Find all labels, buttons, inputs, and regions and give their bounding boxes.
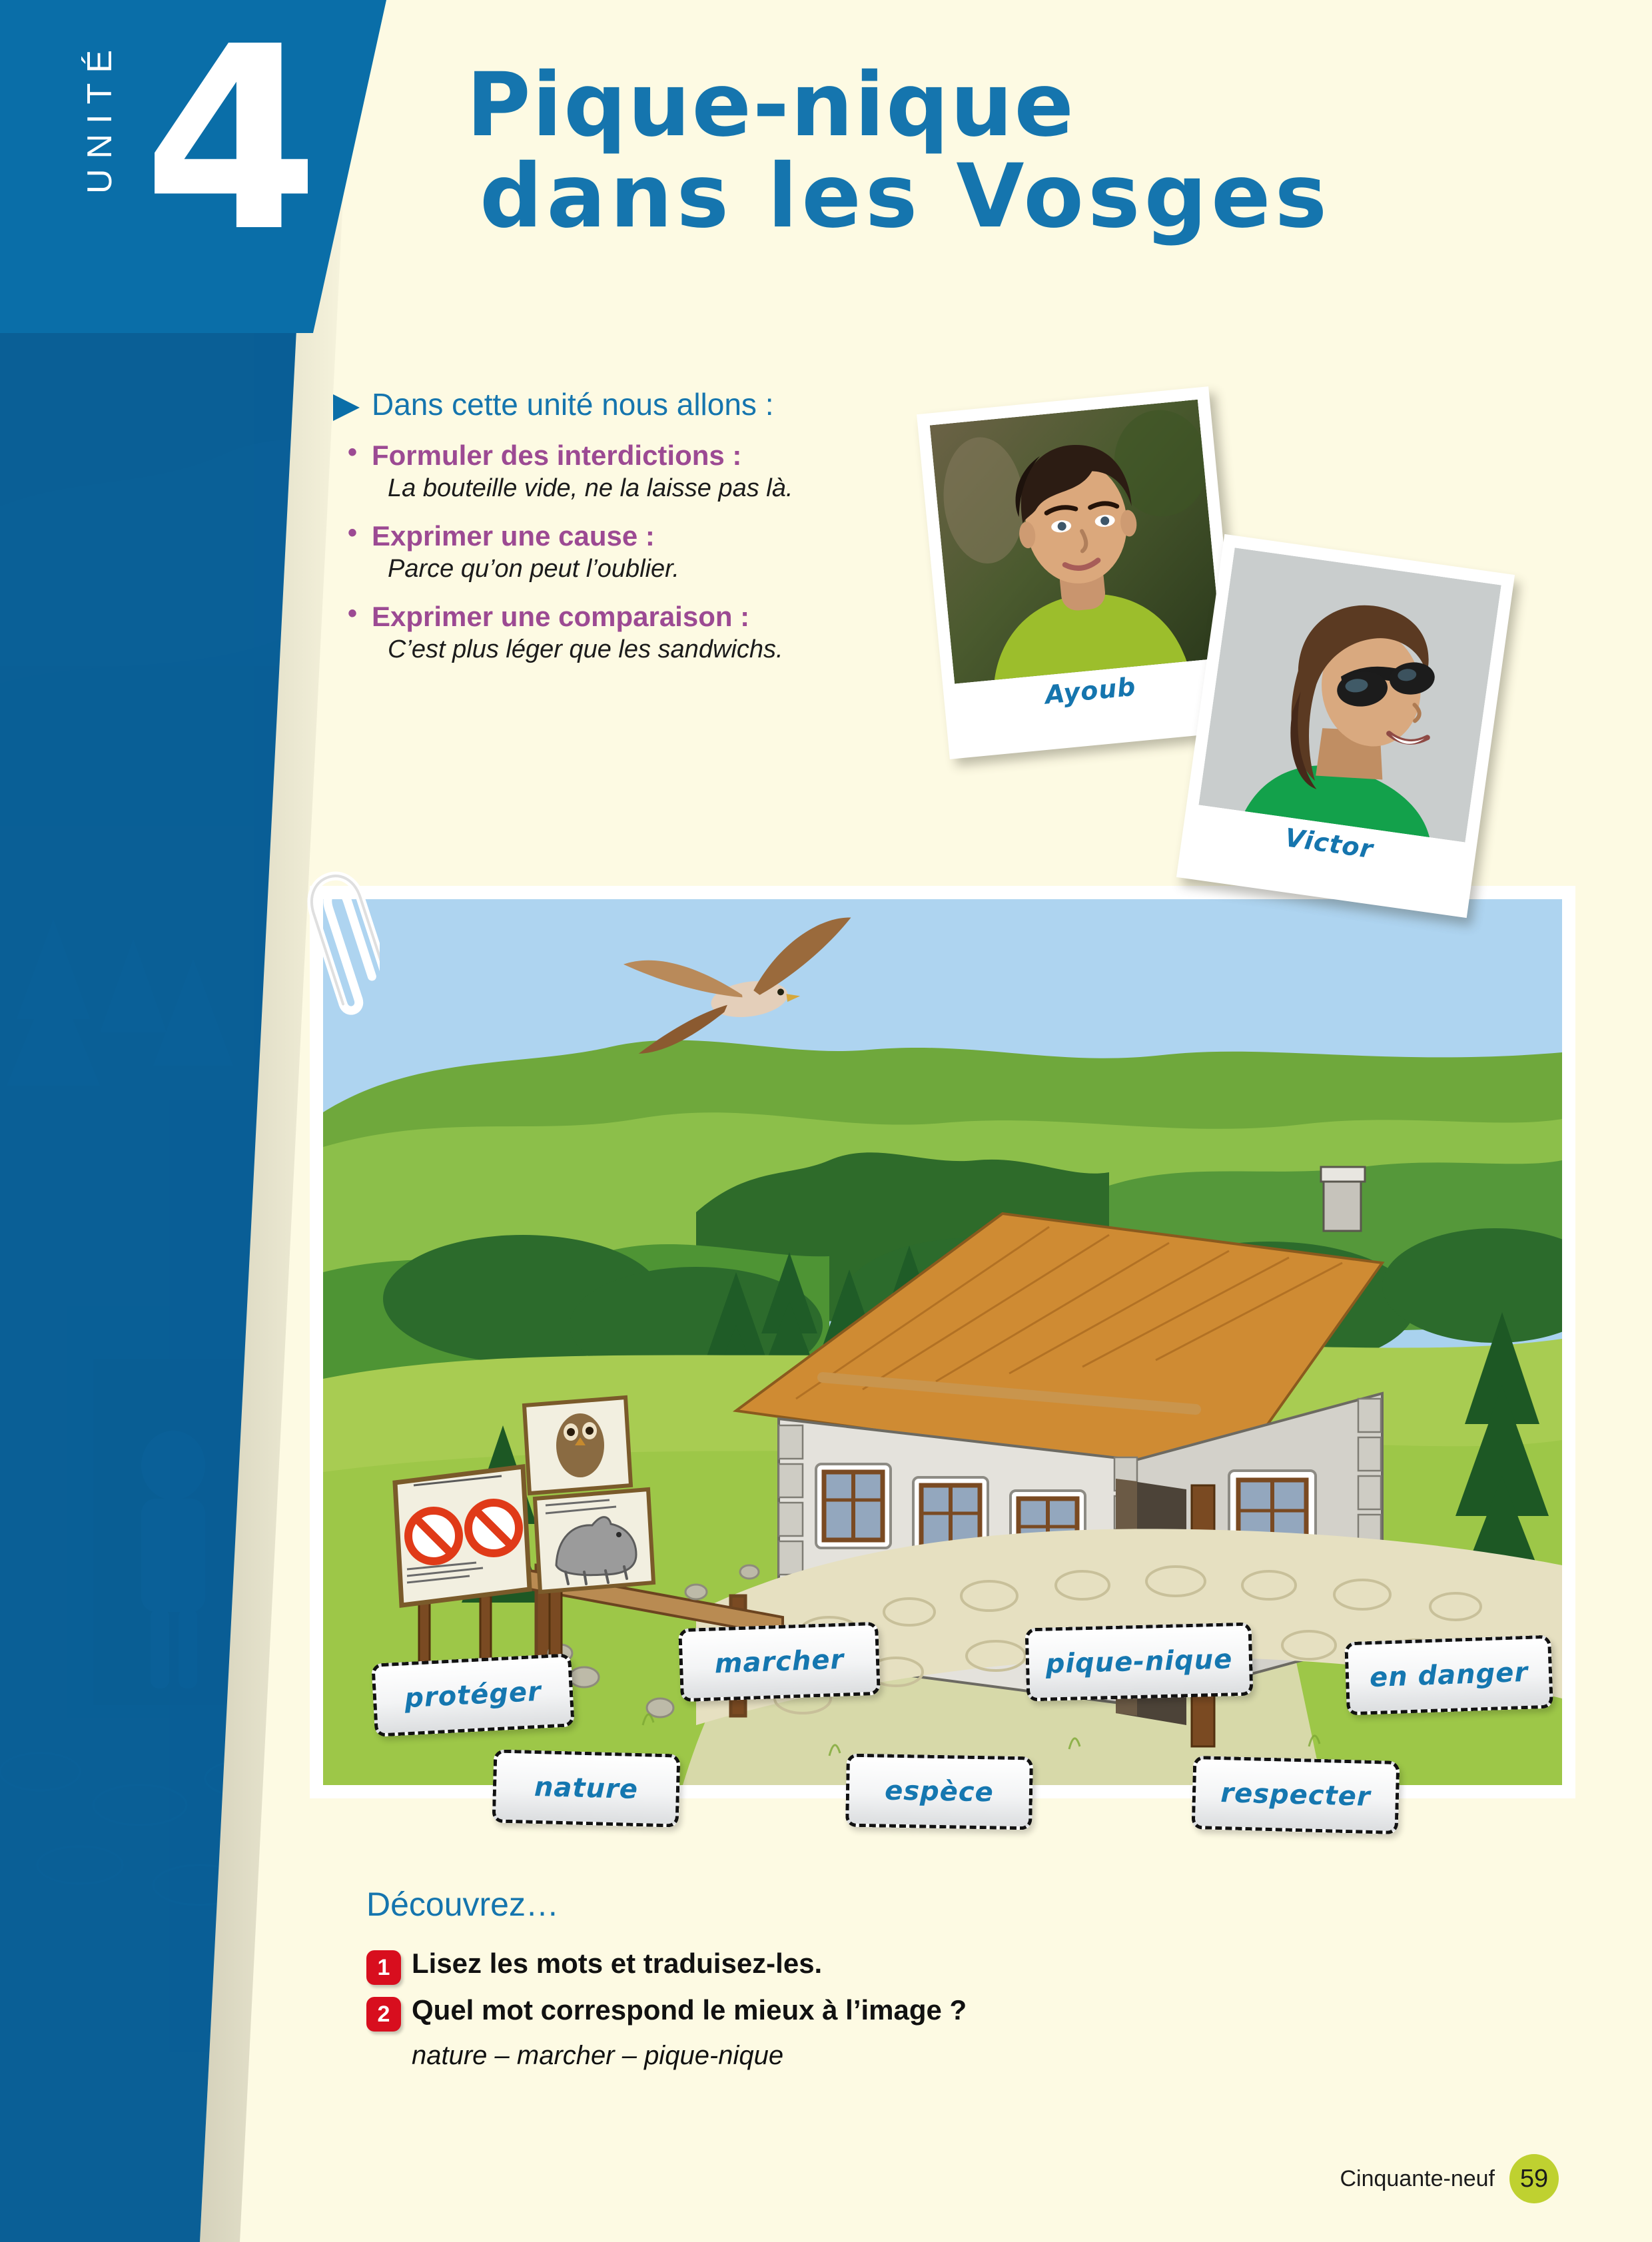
photo-victor-image: [1198, 548, 1501, 842]
exercise-number-badge: 2: [366, 1997, 401, 2032]
decouvrez-section: Découvrez… 1 Lisez les mots et traduisez…: [366, 1885, 1366, 2071]
word-card-label: protéger: [404, 1677, 542, 1714]
unit-number: 4: [143, 13, 319, 266]
word-card[interactable]: nature: [492, 1749, 681, 1827]
word-card-label: marcher: [714, 1645, 845, 1680]
objective-example: La bouteille vide, ne la laisse pas là.: [372, 474, 933, 503]
page-title-line2: dans les Vosges: [466, 151, 1599, 242]
objective-label: Exprimer une comparaison :: [372, 601, 933, 633]
word-card[interactable]: en danger: [1344, 1635, 1553, 1716]
page-title-line1: Pique-nique: [466, 54, 1075, 157]
objective-item: Formuler des interdictions : La bouteill…: [333, 440, 933, 503]
word-card[interactable]: marcher: [678, 1622, 881, 1702]
word-card[interactable]: espèce: [845, 1754, 1033, 1830]
unit-badge: UNITÉ 4: [0, 0, 386, 333]
exercise-row: 2 Quel mot correspond le mieux à l’image…: [366, 1994, 1366, 2032]
exercise-text: Quel mot correspond le mieux à l’image ?: [412, 1994, 967, 2026]
word-card-label: nature: [534, 1772, 638, 1805]
objective-example: C’est plus léger que les sandwichs.: [372, 635, 933, 664]
word-card[interactable]: pique-nique: [1025, 1623, 1254, 1702]
photo-ayoub-image: [930, 400, 1223, 684]
page-number-badge: 59: [1509, 2154, 1559, 2203]
word-card-label: respecter: [1220, 1778, 1371, 1812]
objective-example: Parce qu’on peut l’oublier.: [372, 555, 933, 583]
exercise-number-badge: 1: [366, 1950, 401, 1985]
paperclip-icon: [293, 866, 380, 1019]
photo-card-ayoub: Ayoub: [917, 386, 1242, 759]
exercise-options: nature – marcher – pique-nique: [412, 2041, 1366, 2071]
word-card-label: pique-nique: [1045, 1644, 1233, 1679]
objective-item: Exprimer une comparaison : C’est plus lé…: [333, 601, 933, 664]
page-number-word: Cinquante-neuf: [1340, 2166, 1495, 2192]
exercise-row: 1 Lisez les mots et traduisez-les.: [366, 1948, 1366, 1985]
unit-label: UNITÉ: [80, 40, 120, 194]
photo-card-victor: Victor: [1176, 534, 1515, 918]
decouvrez-title: Découvrez…: [366, 1885, 1366, 1924]
word-card[interactable]: protéger: [371, 1653, 574, 1737]
objective-item: Exprimer une cause : Parce qu’on peut l’…: [333, 520, 933, 583]
page-footer: Cinquante-neuf 59: [1340, 2154, 1559, 2203]
objectives-section: Dans cette unité nous allons : Formuler …: [333, 386, 933, 664]
sidebar-watermark-illustration: [0, 320, 313, 2052]
page-title: Pique-nique dans les Vosges: [466, 60, 1599, 243]
objective-label: Exprimer une cause :: [372, 520, 933, 552]
word-card-label: espèce: [885, 1776, 994, 1808]
word-card-label: en danger: [1369, 1657, 1529, 1693]
arrow-right-icon: [333, 393, 360, 422]
sidebar-decorative-panel: [0, 0, 313, 2242]
word-card[interactable]: respecter: [1192, 1756, 1400, 1834]
objectives-heading: Dans cette unité nous allons :: [372, 386, 773, 422]
exercise-text: Lisez les mots et traduisez-les.: [412, 1948, 822, 1980]
objective-label: Formuler des interdictions :: [372, 440, 933, 472]
